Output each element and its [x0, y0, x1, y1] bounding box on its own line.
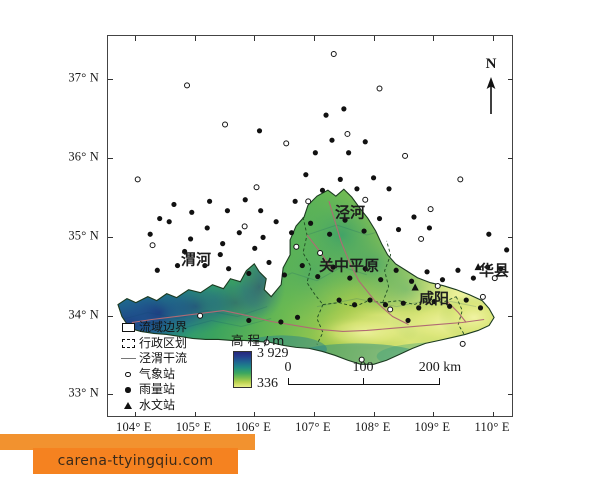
rainfall-station-marker: [396, 227, 401, 232]
figure-root: 104° E105° E106° E107° E108° E109° E110°…: [0, 0, 600, 480]
north-arrow-glyph: [478, 74, 504, 116]
rainfall-station-marker: [367, 297, 372, 302]
y-tick-33: 33° N: [68, 386, 99, 401]
xianyang-label: 咸阳: [419, 288, 449, 309]
meteorological-station-marker: [345, 131, 350, 136]
y-tick-36: 36° N: [68, 150, 99, 165]
rainfall-station-marker: [308, 221, 313, 226]
scalebar-label-200: 200 km: [419, 360, 461, 376]
meteorological-station-marker: [480, 294, 485, 299]
meteorological-station-marker: [458, 177, 463, 182]
meteorological-station-marker: [403, 153, 408, 158]
rainfall-station-marker: [504, 247, 509, 252]
rainfall-station-marker: [327, 232, 332, 237]
x-tick-106: 106° E: [235, 420, 271, 435]
legend-item-3: 气象站: [117, 367, 229, 383]
axis-tick-mark: [108, 158, 113, 159]
x-tick-104: 104° E: [116, 420, 152, 435]
axis-tick-mark: [135, 36, 136, 41]
map-legend: 流域边界行政区划泾渭干流气象站雨量站水文站: [117, 320, 229, 413]
rainfall-station-marker: [171, 202, 176, 207]
meteorological-station-marker: [460, 341, 465, 346]
jing-river-label: 泾河: [335, 202, 365, 223]
rainfall-station-marker: [478, 305, 483, 310]
meteorological-station-marker: [223, 122, 228, 127]
rainfall-station-marker: [293, 199, 298, 204]
rainfall-station-marker: [246, 318, 251, 323]
admin-division-symbol-icon: [117, 339, 139, 348]
rainfall-station-marker: [471, 276, 476, 281]
scalebar-label-0: 0: [285, 360, 292, 376]
x-tick-105: 105° E: [176, 420, 212, 435]
rainfall-station-marker: [320, 188, 325, 193]
rainfall-station-marker: [155, 268, 160, 273]
legend-item-4: 雨量站: [117, 382, 229, 398]
hydrological-station-symbol-icon: [117, 402, 139, 409]
rainfall-station-marker: [243, 197, 248, 202]
rainfall-station-marker: [409, 279, 414, 284]
axis-tick-mark: [508, 394, 513, 395]
meteorological-station-symbol-icon: [117, 372, 139, 378]
rainfall-station-marker: [252, 246, 257, 251]
meteorological-station-marker: [388, 307, 393, 312]
rainfall-station-marker: [266, 260, 271, 265]
wei-river-label: 渭河: [181, 249, 211, 270]
legend-item-1: 行政区划: [117, 336, 229, 352]
rainfall-station-marker: [175, 263, 180, 268]
rainfall-station-marker: [282, 272, 287, 277]
rainfall-station-marker: [278, 319, 283, 324]
colorbar-wrap: 3 929 336: [233, 351, 252, 388]
north-arrow-label: N: [478, 56, 504, 73]
rainfall-station-marker: [346, 150, 351, 155]
rainfall-station-marker: [300, 263, 305, 268]
axis-tick-mark: [108, 79, 113, 80]
meteorological-station-marker: [294, 244, 299, 249]
legend-item-label: 泾渭干流: [139, 351, 187, 366]
rainfall-station-marker: [401, 301, 406, 306]
legend-item-5: 水文站: [117, 398, 229, 414]
guanzhong-plain-label: 关中平原: [319, 255, 379, 276]
axis-tick-mark: [433, 412, 434, 417]
scalebar-midtick: [363, 378, 364, 385]
rainfall-station-marker: [341, 106, 346, 111]
legend-item-label: 水文站: [139, 398, 175, 413]
rainfall-station-marker: [303, 172, 308, 177]
rainfall-station-marker: [424, 269, 429, 274]
meteorological-station-marker: [135, 177, 140, 182]
rainfall-station-marker: [220, 241, 225, 246]
rainfall-station-marker: [361, 229, 366, 234]
river-symbol-icon: [117, 358, 139, 359]
rainfall-station-marker: [486, 232, 491, 237]
rainfall-station-marker: [260, 235, 265, 240]
axis-tick-mark: [195, 36, 196, 41]
scalebar-line: [288, 378, 440, 385]
legend-item-2: 泾渭干流: [117, 351, 229, 367]
axis-tick-mark: [374, 412, 375, 417]
rainfall-station-marker: [218, 252, 223, 257]
watermark-text: carena-ttyingqiu.com: [58, 453, 214, 469]
x-tick-110: 110° E: [474, 420, 509, 435]
colorbar-gradient: [233, 351, 252, 388]
axis-tick-mark: [508, 316, 513, 317]
rainfall-station-marker: [246, 271, 251, 276]
meteorological-station-marker: [428, 207, 433, 212]
axis-tick-mark: [508, 158, 513, 159]
huaxian-label: 华县: [479, 260, 509, 281]
rainfall-station-marker: [289, 230, 294, 235]
rainfall-station-marker: [378, 277, 383, 282]
rainfall-station-marker: [377, 216, 382, 221]
y-tick-35: 35° N: [68, 228, 99, 243]
rainfall-station-marker: [148, 232, 153, 237]
meteorological-station-marker: [150, 243, 155, 248]
meteorological-station-marker: [306, 199, 311, 204]
rainfall-station-marker: [295, 315, 300, 320]
rainfall-station-marker: [394, 268, 399, 273]
x-tick-108: 108° E: [355, 420, 391, 435]
axis-tick-mark: [254, 36, 255, 41]
rainfall-station-marker: [338, 177, 343, 182]
axis-tick-mark: [508, 79, 513, 80]
meteorological-station-marker: [185, 83, 190, 88]
axis-tick-mark: [314, 412, 315, 417]
rainfall-station-marker: [337, 297, 342, 302]
axis-tick-mark: [108, 237, 113, 238]
axis-tick-mark: [314, 36, 315, 41]
rainfall-station-marker: [411, 214, 416, 219]
legend-item-label: 气象站: [139, 367, 175, 382]
axis-tick-mark: [254, 412, 255, 417]
legend-item-label: 雨量站: [139, 382, 175, 397]
rainfall-station-marker: [427, 225, 432, 230]
axis-tick-mark: [108, 394, 113, 395]
rainfall-station-marker: [363, 139, 368, 144]
rainfall-station-marker: [371, 175, 376, 180]
legend-item-label: 行政区划: [139, 336, 187, 351]
axis-tick-mark: [493, 36, 494, 41]
rainfall-station-marker: [347, 276, 352, 281]
rainfall-station-marker: [354, 186, 359, 191]
north-arrow: N: [478, 56, 504, 116]
rainfall-station-marker: [189, 210, 194, 215]
elevation-colorbar: 高 程 / m 3 929 336: [231, 330, 284, 349]
meteorological-station-marker: [198, 313, 203, 318]
rainfall-station-marker: [258, 208, 263, 213]
rainfall-station-marker: [257, 128, 262, 133]
watermark-banner: carena-ttyingqiu.com: [33, 448, 238, 474]
rainfall-station-marker: [167, 219, 172, 224]
rainfall-station-marker: [157, 216, 162, 221]
rainfall-station-marker: [455, 268, 460, 273]
rainfall-station-marker: [237, 230, 242, 235]
rainfall-station-marker: [274, 219, 279, 224]
y-tick-34: 34° N: [68, 307, 99, 322]
rainfall-station-marker: [383, 302, 388, 307]
x-tick-107: 107° E: [295, 420, 331, 435]
rainfall-station-marker: [386, 186, 391, 191]
legend-item-label: 流域边界: [139, 320, 187, 335]
axis-tick-mark: [508, 237, 513, 238]
legend-item-0: 流域边界: [117, 320, 229, 336]
rainfall-station-marker: [405, 318, 410, 323]
rainfall-station-marker: [225, 208, 230, 213]
meteorological-station-marker: [284, 141, 289, 146]
scalebar-label-100: 100: [353, 360, 374, 376]
axis-tick-mark: [493, 412, 494, 417]
rainfall-station-marker: [440, 277, 445, 282]
rainfall-station-marker: [329, 138, 334, 143]
x-tick-109: 109° E: [415, 420, 451, 435]
rainfall-station-marker: [464, 297, 469, 302]
meteorological-station-marker: [242, 224, 247, 229]
meteorological-station-marker: [377, 86, 382, 91]
basin-boundary-symbol-icon: [117, 323, 139, 332]
y-tick-37: 37° N: [68, 71, 99, 86]
rainfall-station-marker: [323, 113, 328, 118]
rainfall-station-symbol-icon: [117, 387, 139, 393]
rainfall-station-marker: [352, 302, 357, 307]
axis-tick-mark: [433, 36, 434, 41]
rainfall-station-marker: [226, 266, 231, 271]
rainfall-station-marker: [313, 150, 318, 155]
meteorological-station-marker: [331, 52, 336, 57]
meteorological-station-marker: [419, 236, 424, 241]
axis-tick-mark: [374, 36, 375, 41]
rainfall-station-marker: [188, 236, 193, 241]
meteorological-station-marker: [254, 185, 259, 190]
rainfall-station-marker: [205, 225, 210, 230]
rainfall-station-marker: [207, 199, 212, 204]
colorbar-min-label: 336: [257, 376, 278, 392]
axis-tick-mark: [108, 316, 113, 317]
